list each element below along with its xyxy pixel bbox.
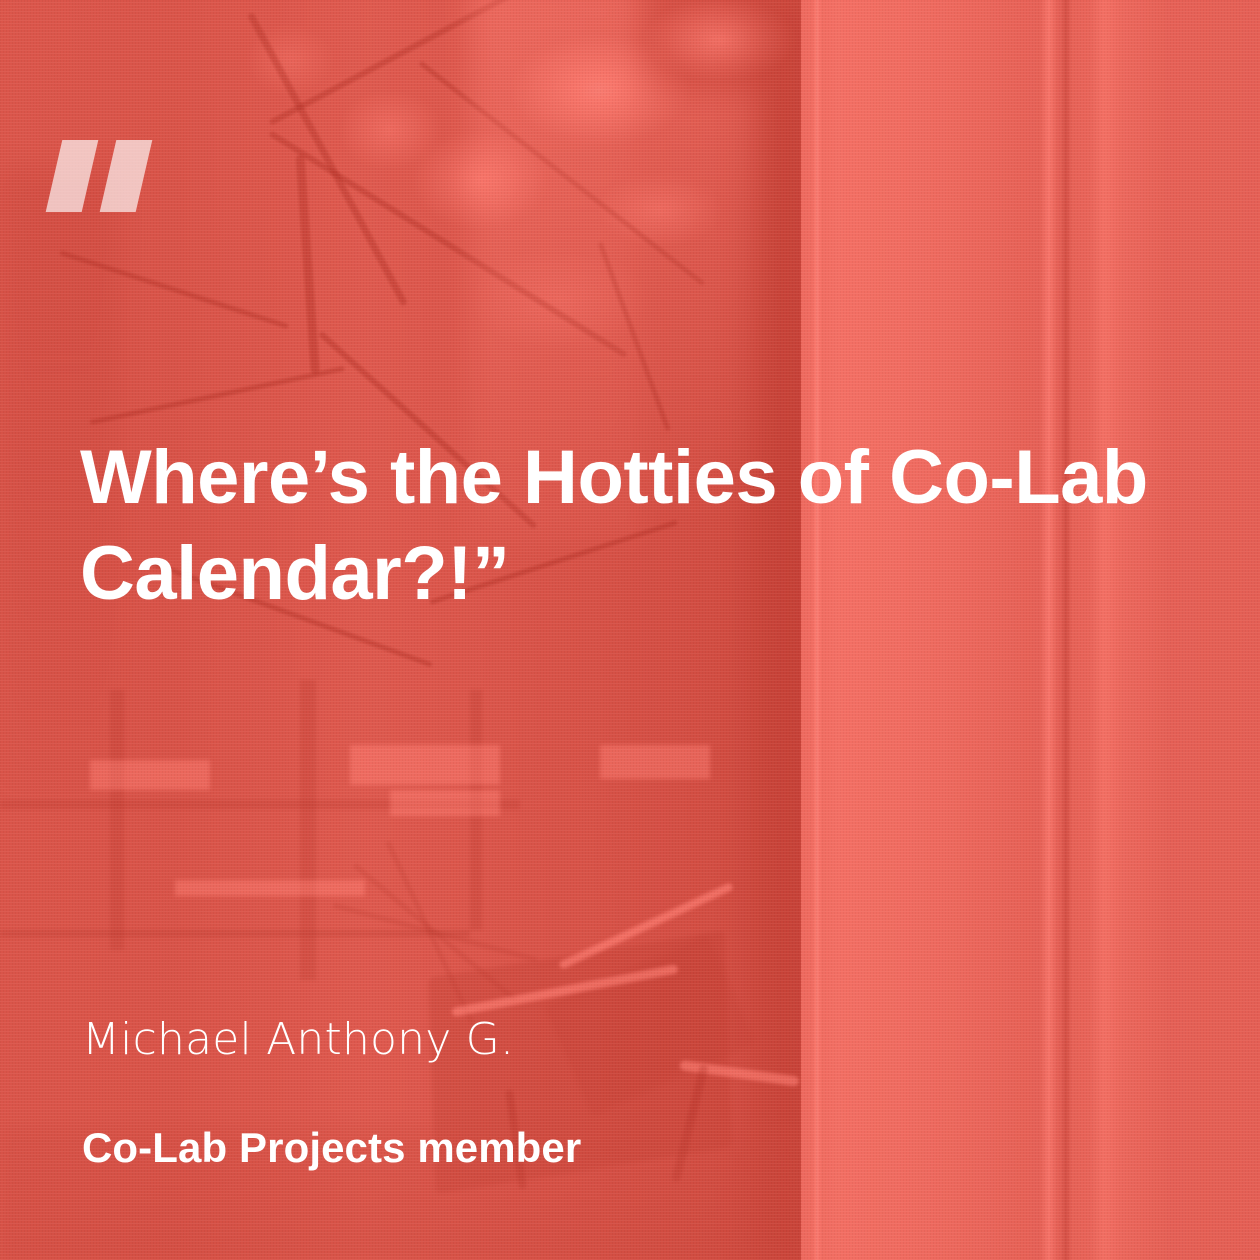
card-content: Where’s the Hotties of Co-Lab Calendar?!… <box>0 0 1260 1260</box>
attribution-role: Co-Lab Projects member <box>82 1124 581 1172</box>
testimonial-card: Where’s the Hotties of Co-Lab Calendar?!… <box>0 0 1260 1260</box>
attribution-name: Michael Anthony G. <box>82 1014 514 1065</box>
quote-stroke-right <box>100 140 153 212</box>
double-quote-icon <box>50 140 154 212</box>
quote-headline: Where’s the Hotties of Co-Lab Calendar?!… <box>80 430 1190 622</box>
quote-stroke-left <box>46 140 99 212</box>
